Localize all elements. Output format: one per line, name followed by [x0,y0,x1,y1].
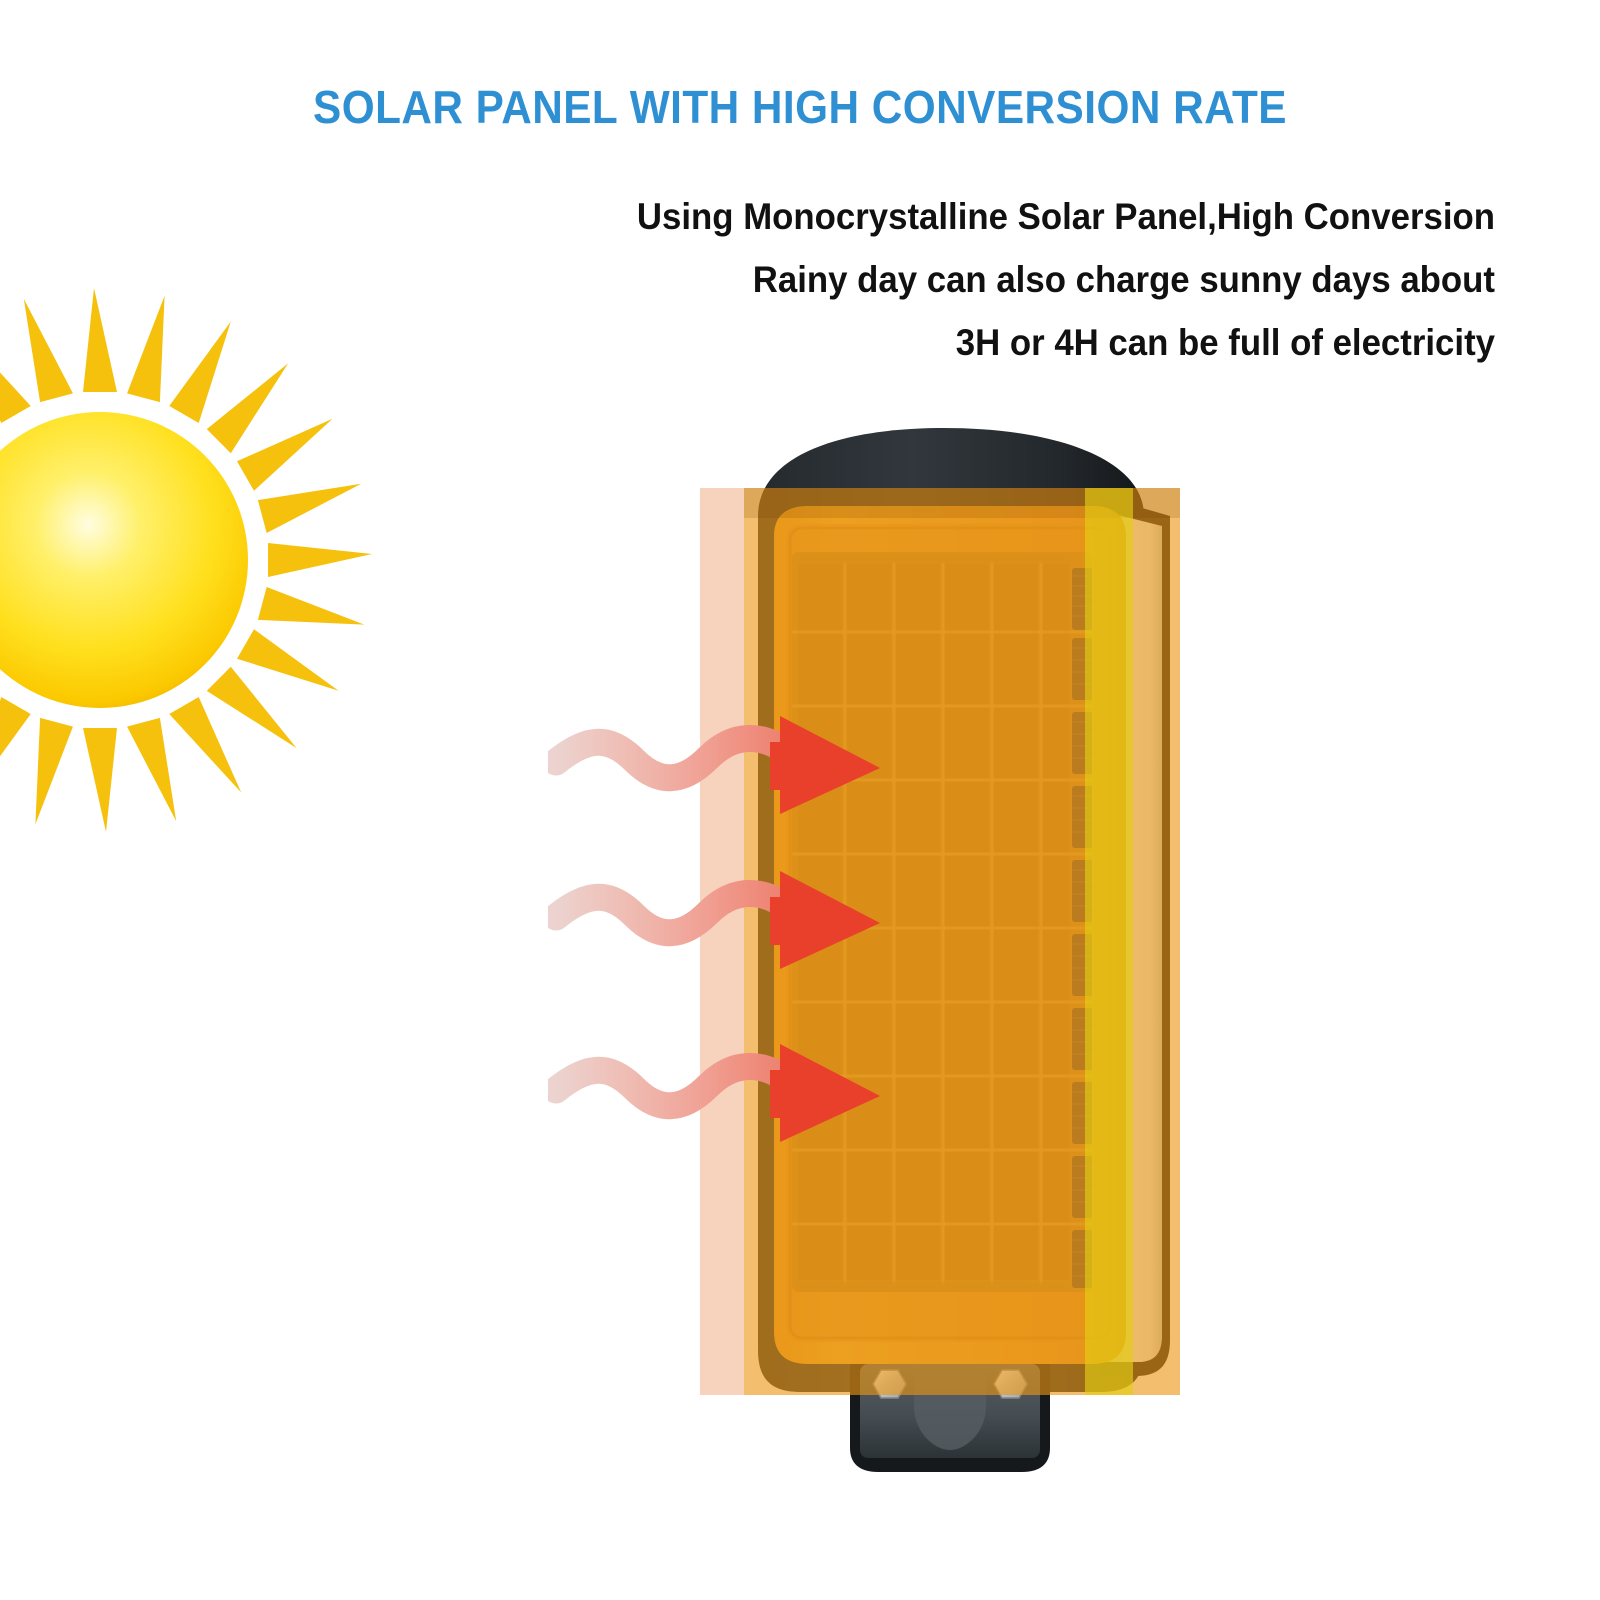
description-line-1: Using Monocrystalline Solar Panel,High C… [90,185,1495,248]
slide-canvas: SOLAR PANEL WITH HIGH CONVERSION RATE Us… [0,0,1600,1600]
sunlight-arrow-2 [548,845,898,975]
page-title: SOLAR PANEL WITH HIGH CONVERSION RATE [64,80,1536,134]
sun-icon [0,260,380,860]
sunlight-arrow-3 [548,1018,898,1148]
sunlight-arrow-1 [548,690,898,820]
